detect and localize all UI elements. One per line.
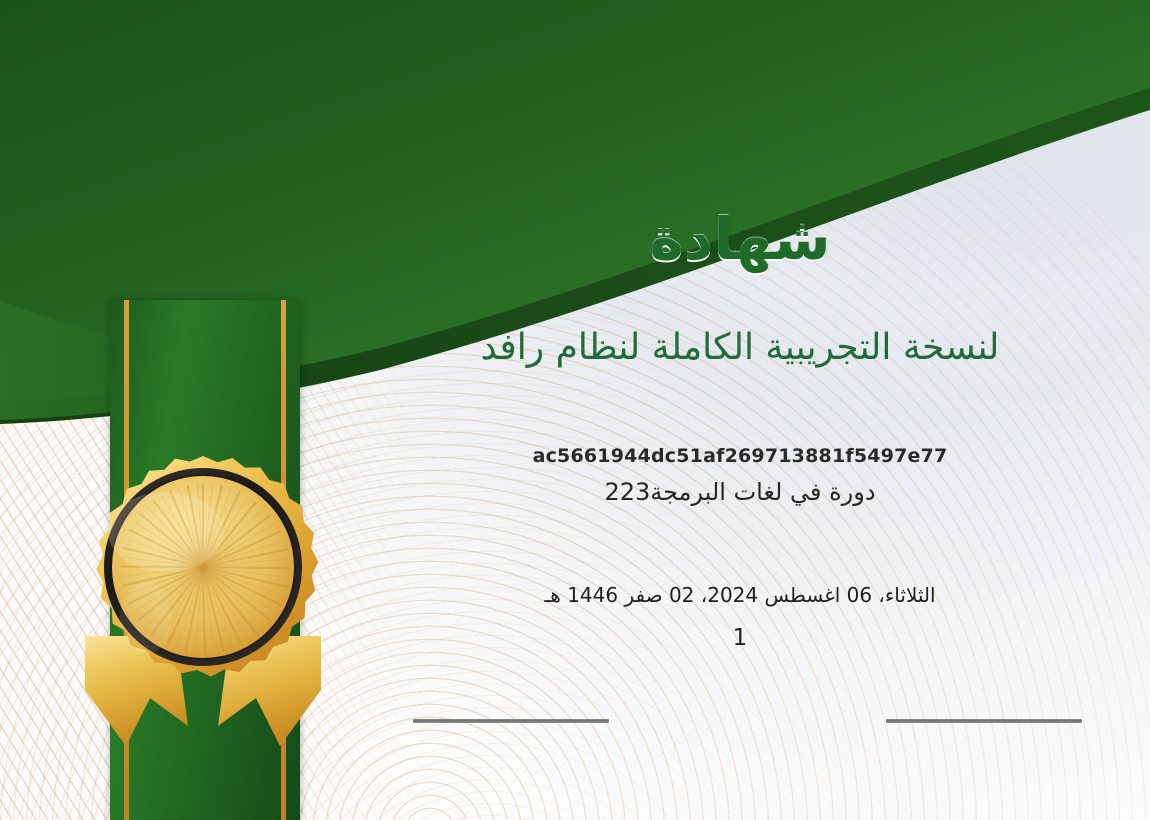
certificate-content: شهادة لنسخة التجريبية الكاملة لنظام رافد… <box>330 0 1150 820</box>
signature-line-left <box>413 719 609 723</box>
certificate-subtitle: لنسخة التجريبية الكاملة لنظام رافد <box>330 325 1150 370</box>
award-medal-icon <box>28 440 378 770</box>
signature-line-right <box>886 719 1082 723</box>
course-name: دورة في لغات البرمجة223 <box>330 478 1150 506</box>
page-title: شهادة <box>330 208 1150 272</box>
certificate-page: شهادة لنسخة التجريبية الكاملة لنظام رافد… <box>0 0 1150 820</box>
issue-date: الثلاثاء، 06 اغسطس 2024، 02 صفر 1446 هـ <box>330 583 1150 607</box>
verification-code: ac5661944dc51af269713881f5497e77 <box>330 445 1150 467</box>
serial-number: 1 <box>330 625 1150 651</box>
